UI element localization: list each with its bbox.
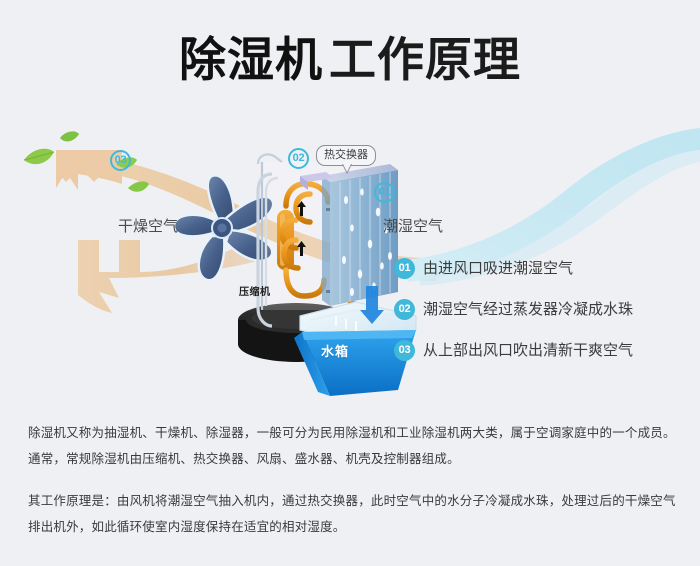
legend-text-02: 潮湿空气经过蒸发器冷凝成水珠 — [423, 300, 633, 320]
page-root: 除湿机工作原理 — [0, 0, 700, 566]
legend-text-03: 从上部出风口吹出清新干爽空气 — [423, 341, 633, 361]
legend-item-01: 01 由进风口吸进潮湿空气 — [394, 258, 664, 299]
callout-tail-icon — [342, 164, 352, 174]
legend-item-03: 03 从上部出风口吹出清新干爽空气 — [394, 340, 664, 381]
heat-exchanger-callout: 热交换器 — [316, 145, 376, 166]
legend-list: 01 由进风口吸进潮湿空气 02 潮湿空气经过蒸发器冷凝成水珠 03 从上部出风… — [394, 258, 664, 381]
dehumidifier-body — [238, 154, 416, 396]
description-block: 除湿机又称为抽湿机、干燥机、除湿器，一般可分为民用除湿机和工业除湿机两大类，属于… — [28, 420, 676, 540]
description-paragraph-2: 其工作原理是：由风机将潮湿空气抽入机内，通过热交换器，此时空气中的水分子冷凝成水… — [28, 488, 676, 540]
page-title: 除湿机工作原理 — [0, 32, 700, 88]
page-title-part1: 除湿机 — [179, 33, 323, 86]
legend-text-01: 由进风口吸进潮湿空气 — [423, 259, 573, 279]
legend-badge-03: 03 — [394, 340, 415, 361]
legend-badge-01: 01 — [394, 258, 415, 279]
legend-item-02: 02 潮湿空气经过蒸发器冷凝成水珠 — [394, 299, 664, 340]
legend-badge-02: 02 — [394, 299, 415, 320]
page-title-part2: 工作原理 — [329, 33, 521, 86]
description-paragraph-1: 除湿机又称为抽湿机、干燥机、除湿器，一般可分为民用除湿机和工业除湿机两大类，属于… — [28, 420, 676, 472]
leaf-icon — [60, 131, 79, 141]
